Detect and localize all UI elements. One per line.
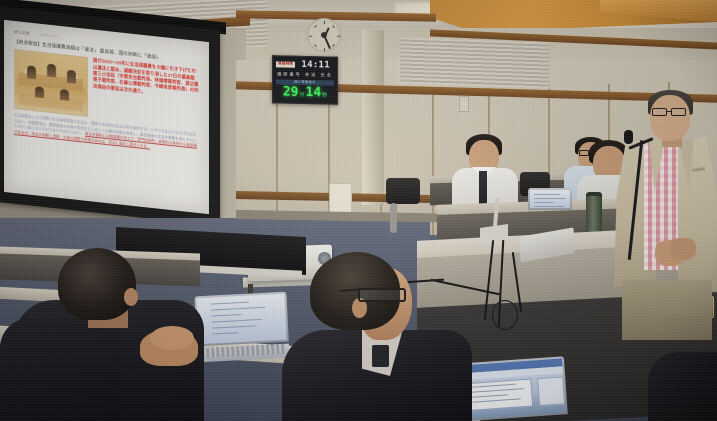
- laptop-right-screen: [456, 358, 566, 419]
- standing-speaker-hand-right: [670, 238, 696, 260]
- timer-clock: 14:11: [301, 60, 334, 70]
- wall-sign-plate: [459, 96, 469, 112]
- microphone-head: [624, 130, 633, 144]
- chair-back: [386, 178, 420, 204]
- foreground-attendee-left-shoulder: [0, 318, 120, 421]
- timer-seconds: 14: [306, 86, 322, 99]
- timer-minutes-unit: 分: [299, 90, 304, 97]
- slide-red-text: 国が2013〜15年に生活保護費を大幅に引き下げたのは違法と認め、減額決定を取り…: [93, 58, 199, 130]
- chair-post: [390, 203, 397, 233]
- foreground-attendee-left-ear: [124, 288, 138, 306]
- timer-tag-label: 質疑時間: [276, 62, 295, 68]
- timer-row-labels: 議席番号 会派 氏名: [276, 71, 334, 78]
- clock-center-hub: [321, 32, 327, 38]
- timer-seconds-unit: 秒: [322, 91, 327, 98]
- laptop-rear-screen: [530, 190, 570, 208]
- standing-speaker-head: [650, 95, 690, 141]
- speech-timer-board: 質疑時間 14:11 議席番号 会派 氏名 残り時間表示 29 分 14 秒: [272, 55, 338, 104]
- window-blinds-right: [400, 37, 550, 88]
- foreground-attendee-left-hand-upper: [150, 326, 194, 350]
- laptop-left[interactable]: [194, 292, 289, 361]
- meeting-room-photo: 朝日新聞 2025.6.27 【判決要旨】生活保護費減額は「違法」 最高裁、国の…: [0, 0, 717, 421]
- foreground-attendee-right-edge: [648, 352, 717, 421]
- clock-minute-hand: [324, 36, 331, 49]
- eyeglasses-icon: [652, 108, 688, 116]
- slide-courtroom-photo: [14, 49, 88, 117]
- foreground-attendee-left-head: [58, 248, 136, 320]
- projection-screen: 朝日新聞 2025.6.27 【判決要旨】生活保護費減額は「違法」 最高裁、国の…: [4, 20, 209, 214]
- timer-elapsed: 29 分 14 秒: [276, 85, 334, 99]
- timer-minutes: 29: [283, 85, 299, 98]
- cable-coil: [492, 300, 518, 330]
- projected-slide: 朝日新聞 2025.6.27 【判決要旨】生活保護費減額は「違法」 最高裁、国の…: [4, 20, 209, 214]
- wall-corner-column: [362, 30, 384, 205]
- eyeglasses-icon: [358, 288, 406, 302]
- laptop-left-screen: [196, 294, 286, 345]
- standing-speaker-lower-body: [622, 280, 712, 340]
- laptop-rear[interactable]: [528, 188, 572, 214]
- foreground-attendee-center-necktie: [372, 345, 389, 367]
